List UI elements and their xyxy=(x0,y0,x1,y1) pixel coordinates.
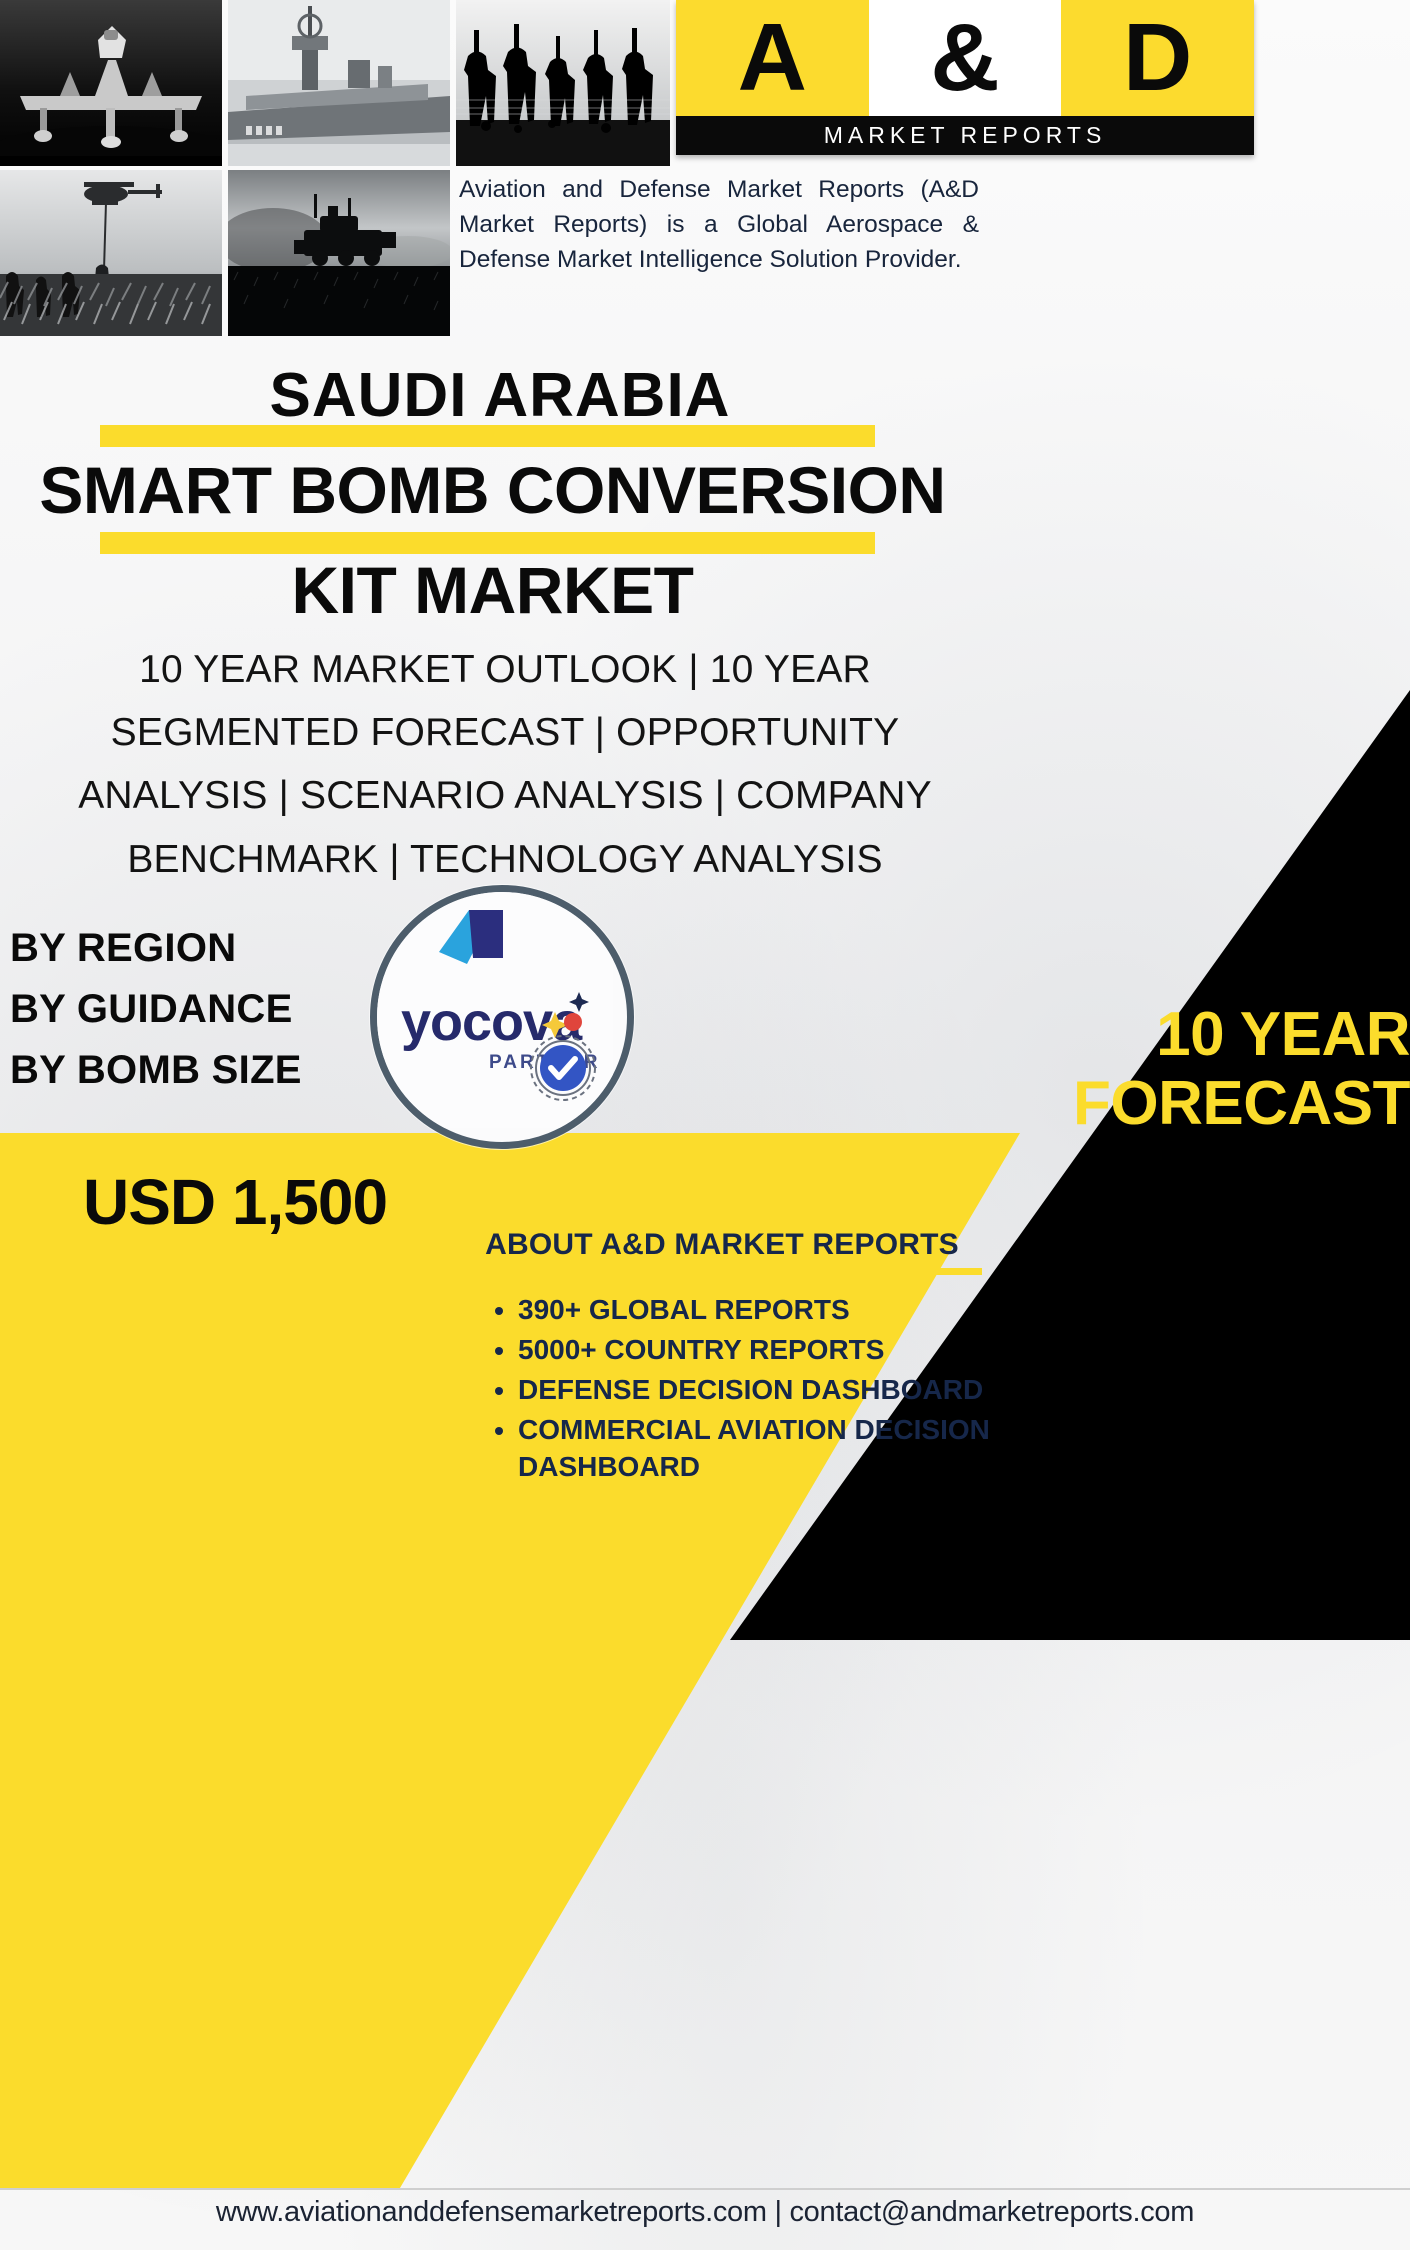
about-heading-underline xyxy=(460,1268,982,1275)
poster-root: A & D MARKET REPORTS Aviation and Defens… xyxy=(0,0,1410,2250)
yocova-partner-badge: yocova PARTNER xyxy=(370,885,634,1149)
title-country: SAUDI ARABIA xyxy=(0,360,1000,431)
armored-vehicle-photo xyxy=(228,170,450,336)
subtitle-text: 10 YEAR MARKET OUTLOOK | 10 YEAR SEGMENT… xyxy=(30,638,980,891)
helicopter-rappel-photo xyxy=(0,170,222,336)
logo-letter-a: A xyxy=(738,10,807,106)
about-item: 390+ GLOBAL REPORTS xyxy=(518,1292,1018,1329)
logo-subtitle-text: MARKET REPORTS xyxy=(824,122,1107,149)
segment-item-by-bomb-size: BY BOMB SIZE xyxy=(10,1040,302,1101)
yocova-chevron-dark xyxy=(469,910,503,958)
price-value: USD 1,500 xyxy=(0,1165,470,1239)
forecast-callout: 10 YEAR FORECAST xyxy=(690,1000,1410,1139)
yocova-badge-graphic: yocova PARTNER xyxy=(377,892,613,1128)
logo-letter-d: D xyxy=(1123,10,1192,106)
red-dot-icon xyxy=(564,1013,582,1031)
fighter-jet-photo xyxy=(0,0,222,166)
about-item: 5000+ COUNTRY REPORTS xyxy=(518,1332,1018,1369)
logo-cell-d: D xyxy=(1061,0,1254,116)
forecast-line-2: FORECAST xyxy=(690,1069,1410,1138)
soldiers-silhouette-photo xyxy=(456,0,670,166)
about-item: COMMERCIAL AVIATION DECISION DASHBOARD xyxy=(518,1412,1018,1486)
title-line-2: KIT MARKET xyxy=(0,552,985,628)
about-heading: ABOUT A&D MARKET REPORTS xyxy=(462,1228,982,1262)
footer-contact[interactable]: www.aviationanddefensemarketreports.com … xyxy=(0,2196,1410,2229)
about-item: DEFENSE DECISION DASHBOARD xyxy=(518,1372,1018,1409)
forecast-line-1: 10 YEAR xyxy=(1156,1000,1410,1069)
logo-letter-ampersand: & xyxy=(930,10,999,106)
segment-list: BY REGION BY GUIDANCE BY BOMB SIZE xyxy=(10,918,302,1100)
intro-paragraph: Aviation and Defense Market Reports (A&D… xyxy=(459,173,979,277)
and-market-reports-logo: A & D MARKET REPORTS xyxy=(676,0,1254,155)
aircraft-carrier-photo xyxy=(228,0,450,166)
segment-item-by-region: BY REGION xyxy=(10,918,302,979)
logo-letters-row: A & D xyxy=(676,0,1254,116)
footer-divider xyxy=(0,2188,1410,2190)
about-bullet-list: 390+ GLOBAL REPORTS 5000+ COUNTRY REPORT… xyxy=(488,1292,1018,1489)
title-divider-top xyxy=(100,425,875,447)
logo-cell-a: A xyxy=(676,0,869,116)
segment-item-by-guidance: BY GUIDANCE xyxy=(10,979,302,1040)
title-divider-bottom xyxy=(100,532,875,554)
title-line-1: SMART BOMB CONVERSION xyxy=(0,452,985,528)
logo-subtitle-bar: MARKET REPORTS xyxy=(676,116,1254,155)
logo-cell-ampersand: & xyxy=(869,0,1062,116)
